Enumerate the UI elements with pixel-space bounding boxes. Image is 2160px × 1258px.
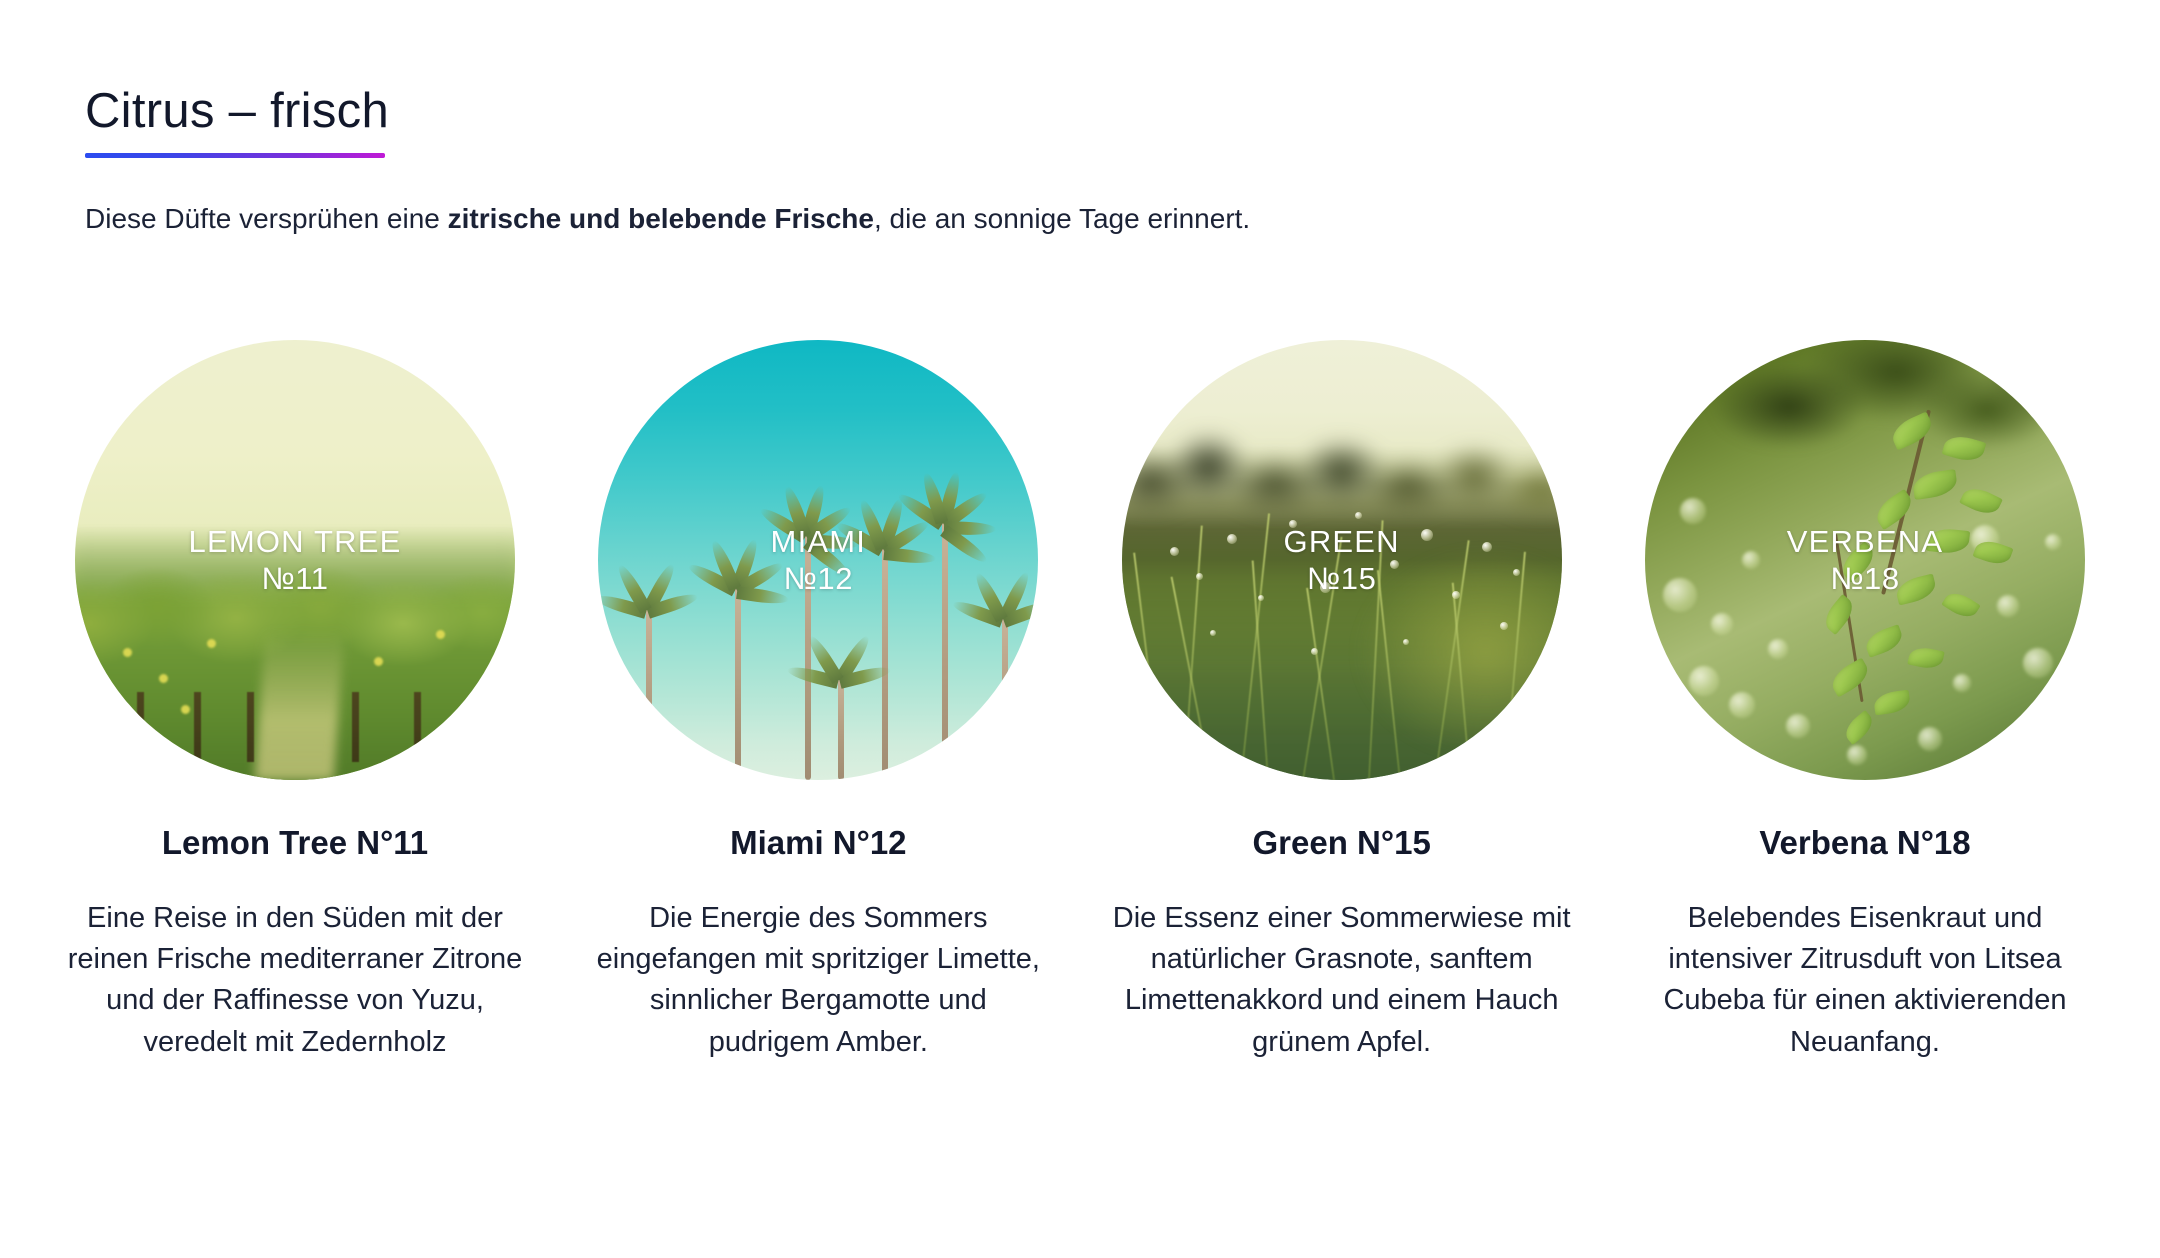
palm-trunk — [838, 674, 844, 780]
bokeh-circle — [1689, 666, 1719, 696]
bokeh-circle — [1742, 551, 1760, 569]
tree-trunk — [352, 692, 359, 762]
circle-image-miami[interactable]: MIAMI №12 — [598, 340, 1038, 780]
dark-canopy-layer — [1698, 340, 2085, 454]
tree-trunk — [414, 692, 421, 762]
sunlit-grass-highlight — [1359, 551, 1561, 753]
dewy-meadow-image — [1122, 340, 1562, 780]
dew-drop — [1513, 569, 1520, 576]
fragrance-card-green[interactable]: GREEN №15 Green N°15 Die Essenz einer So… — [1107, 340, 1577, 1063]
dew-drop — [1390, 560, 1399, 569]
card-title-verbena: Verbena N°18 — [1759, 824, 1970, 862]
bokeh-circle — [1680, 498, 1706, 524]
palm-tree — [814, 674, 870, 780]
palm-trunk — [735, 582, 741, 780]
bokeh-circle — [2023, 648, 2053, 678]
dew-drop — [1421, 529, 1433, 541]
page-header: Citrus – frisch — [85, 85, 389, 158]
tree-trunk — [247, 692, 254, 762]
dew-drop — [1227, 534, 1237, 544]
card-description-miami: Die Energie des Sommers eingefangen mit … — [588, 898, 1048, 1063]
grove-path-layer — [255, 630, 345, 780]
blurred-treeline-layer — [1122, 406, 1562, 529]
fragrance-card-lemon-tree[interactable]: LEMON TREE №11 Lemon Tree N°11 Eine Reis… — [60, 340, 530, 1063]
leaf — [1912, 469, 1959, 500]
tree-trunk — [137, 692, 144, 762]
palm-tree — [620, 604, 680, 780]
bokeh-circle — [1768, 639, 1788, 659]
page-subtitle: Diese Düfte versprühen eine zitrische un… — [85, 200, 1250, 238]
dew-drop — [1170, 547, 1179, 556]
bokeh-circle — [1786, 714, 1810, 738]
tree-trunk — [194, 692, 201, 762]
circle-image-lemon-tree[interactable]: LEMON TREE №11 — [75, 340, 515, 780]
card-title-lemon-tree: Lemon Tree N°11 — [162, 824, 428, 862]
page-title: Citrus – frisch — [85, 85, 389, 139]
palm-tree — [906, 516, 986, 780]
dew-drop — [1500, 622, 1508, 630]
dew-drop — [1320, 582, 1331, 593]
palm-trunk — [882, 542, 888, 780]
green-leaves-image — [1645, 340, 2085, 780]
dew-drop — [1355, 512, 1362, 519]
title-accent-rule — [85, 153, 385, 158]
leaf — [1841, 710, 1878, 745]
bokeh-circle — [1847, 745, 1867, 765]
leaf — [1862, 625, 1905, 659]
leaf — [1907, 645, 1944, 672]
fragrance-category-page: Citrus – frisch Diese Düfte versprühen e… — [0, 0, 2160, 1258]
dew-drop — [1311, 648, 1318, 655]
palm-trunk — [1002, 613, 1008, 780]
lemon-grove-image — [75, 340, 515, 780]
leaf — [1925, 527, 1969, 555]
palm-tree — [704, 582, 774, 780]
lemon-fruit — [159, 674, 168, 683]
leaf — [1827, 657, 1873, 697]
card-description-green: Die Essenz einer Sommerwiese mit natürli… — [1112, 898, 1572, 1063]
dew-drop — [1452, 591, 1460, 599]
bokeh-circle — [1711, 613, 1733, 635]
bokeh-circle — [1918, 727, 1942, 751]
card-title-green: Green N°15 — [1253, 824, 1431, 862]
bokeh-circle — [1953, 674, 1971, 692]
leaf — [1941, 588, 1980, 623]
fragrance-card-miami[interactable]: MIAMI №12 Miami N°12 Die Energie des Som… — [583, 340, 1053, 1063]
bokeh-circle — [1997, 595, 2019, 617]
card-description-lemon-tree: Eine Reise in den Süden mit der reinen F… — [65, 898, 525, 1063]
circle-image-verbena[interactable]: VERBENA №18 — [1645, 340, 2085, 780]
bokeh-circle — [2045, 534, 2061, 550]
leaf — [1894, 573, 1938, 605]
palm-trees-image — [598, 340, 1038, 780]
palm-tree — [977, 613, 1035, 780]
subtitle-text-after: , die an sonnige Tage erinnert. — [874, 203, 1250, 234]
subtitle-text-emphasis: zitrische und belebende Frische — [448, 203, 874, 234]
fragrance-card-grid: LEMON TREE №11 Lemon Tree N°11 Eine Reis… — [60, 340, 2100, 1063]
bokeh-circle — [1663, 578, 1697, 612]
lemon-fruit — [181, 705, 190, 714]
lemon-fruit — [374, 657, 383, 666]
card-description-verbena: Belebendes Eisenkraut und intensiver Zit… — [1635, 898, 2095, 1063]
subtitle-text-before: Diese Düfte versprühen eine — [85, 203, 448, 234]
palm-trunk — [942, 516, 948, 780]
bokeh-circle — [1729, 692, 1755, 718]
circle-image-green[interactable]: GREEN №15 — [1122, 340, 1562, 780]
leaf — [1819, 594, 1858, 635]
leaf — [1959, 482, 2003, 518]
card-title-miami: Miami N°12 — [730, 824, 906, 862]
palm-trunk — [805, 529, 811, 780]
leaf — [1872, 690, 1911, 716]
fragrance-card-verbena[interactable]: VERBENA №18 Verbena N°18 Belebendes Eise… — [1630, 340, 2100, 1063]
leaf — [1871, 489, 1917, 530]
palm-trunk — [646, 604, 652, 780]
